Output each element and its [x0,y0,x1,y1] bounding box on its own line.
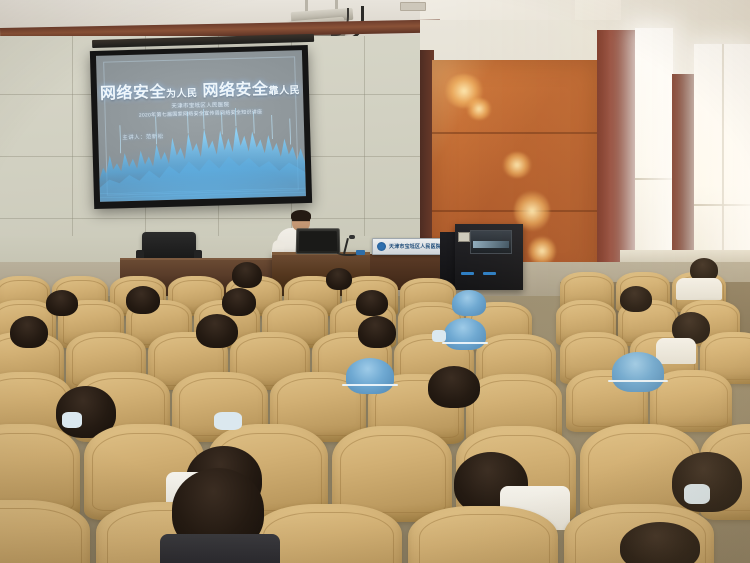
wood-column-left [597,30,635,285]
control-monitor [470,230,512,254]
slide-title-part1: 网络安全 [100,84,166,103]
face-mask-icon [684,484,710,504]
audience-head [10,316,48,348]
slide-title-small1: 为人民 [166,88,198,100]
audience-head-cap [452,290,486,316]
audience-head-cap [346,358,394,394]
audience-head-cap [444,318,486,350]
audience-head [672,452,742,512]
slide-title-small2: 靠人民 [268,85,300,97]
rack-led-1 [461,272,474,275]
audience-head [356,290,388,316]
audience-coat [676,278,722,300]
speaker-hair [291,210,311,221]
face-mask-icon [214,412,242,430]
slide-title-part2: 网络安全 [202,81,268,100]
rack-led-2 [483,272,496,275]
face-mask-icon [62,412,82,428]
venue-sign-text: 天津市宝坻区人民医院 [389,243,441,250]
audience-coat [656,338,696,364]
ceiling-vent-icon [400,2,426,11]
projection-screen: 网络安全为人民 网络安全靠人民 天津市宝坻区人民医院 2020年第七届国家网络安… [90,45,312,209]
cap-tie [442,342,488,344]
audience-head [222,288,256,316]
audience-head [428,366,480,408]
hospital-emblem-icon [377,242,386,251]
audience-head [620,286,652,312]
audience-head [326,268,352,290]
audience-head [196,314,238,348]
auditorium-photo: 网络安全为人民 网络安全靠人民 天津市宝坻区人民医院 2020年第七届国家网络安… [0,0,750,563]
window-right [694,44,750,280]
slide-waveform-graphic [97,104,305,202]
laptop-screen [299,231,337,251]
cap-tie [342,384,398,386]
control-monitor-screen [473,241,509,248]
window-left [635,28,673,278]
podium-blue-device [356,250,365,255]
microphone-icon [349,235,355,239]
audience-head [46,290,78,316]
wood-column-right [672,74,694,274]
audience-head-cap [612,352,664,392]
rack-small-panel [458,232,470,242]
audience-head [232,262,262,288]
audience-head [358,316,396,348]
face-mask-icon [432,330,446,342]
audience-head [126,286,160,314]
cap-tie [608,380,668,382]
projected-slide: 网络安全为人民 网络安全靠人民 天津市宝坻区人民医院 2020年第七届国家网络安… [96,50,306,202]
audience-shoulders [160,534,280,563]
seat [408,506,558,563]
laptop-icon [296,228,341,254]
